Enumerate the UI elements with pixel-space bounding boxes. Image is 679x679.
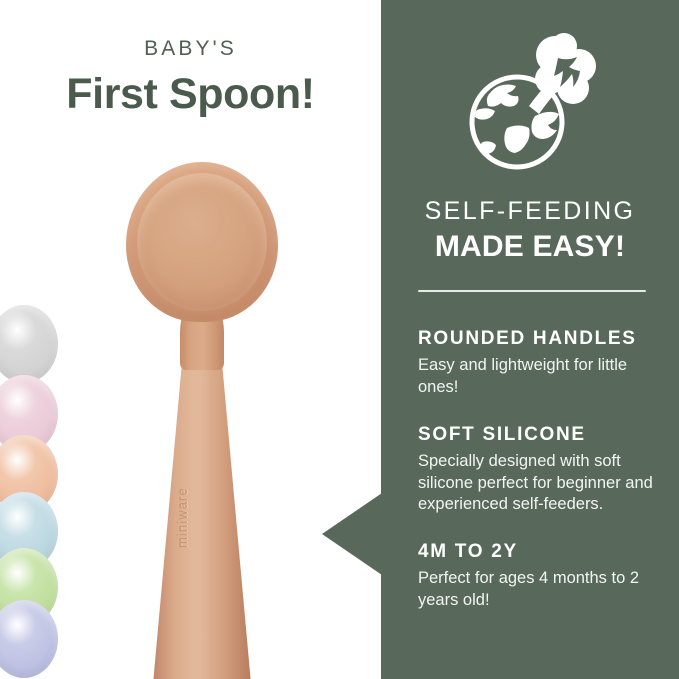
feature-item: 4M TO 2Y Perfect for ages 4 months to 2 … xyxy=(418,541,656,612)
feature-body: Specially designed with soft silicone pe… xyxy=(418,451,656,517)
spoon-bowl xyxy=(126,162,278,322)
color-swatch-spoon-lavender xyxy=(0,600,58,678)
swatch-spoon-bowl xyxy=(0,305,58,383)
product-brandmark: miniware xyxy=(175,487,190,548)
spoon-bowl-recess xyxy=(137,173,267,311)
feature-body: Perfect for ages 4 months to 2 years old… xyxy=(418,568,656,612)
hero-spoon-image xyxy=(126,162,278,679)
brand-logo xyxy=(381,24,679,174)
feature-item: SOFT SILICONE Specially designed with so… xyxy=(418,424,656,517)
feature-list: ROUNDED HANDLES Easy and lightweight for… xyxy=(418,328,656,612)
title-block: BABY'S First Spoon! xyxy=(0,38,381,117)
feature-item: ROUNDED HANDLES Easy and lightweight for… xyxy=(418,328,656,399)
feature-body: Easy and lightweight for little ones! xyxy=(418,355,656,399)
swatch-spoon-bowl xyxy=(0,600,58,678)
heading-line-1: SELF-FEEDING xyxy=(381,198,679,226)
feature-title: 4M TO 2Y xyxy=(418,541,656,563)
panel-heading: SELF-FEEDING MADE EASY! xyxy=(381,198,679,263)
heading-line-2: MADE EASY! xyxy=(381,230,679,263)
infographic-root: BABY'S First Spoon! miniware xyxy=(0,0,679,679)
heading-divider xyxy=(418,290,646,292)
page-title: First Spoon! xyxy=(0,71,381,117)
feature-title: ROUNDED HANDLES xyxy=(418,328,656,350)
eyebrow-text: BABY'S xyxy=(0,38,381,59)
feature-title: SOFT SILICONE xyxy=(418,424,656,446)
color-swatch-spoon-grey xyxy=(0,305,58,383)
left-product-panel: BABY'S First Spoon! miniware xyxy=(0,0,381,679)
globe-with-sprout-icon xyxy=(455,24,605,174)
spoon-handle-shading xyxy=(153,358,251,679)
